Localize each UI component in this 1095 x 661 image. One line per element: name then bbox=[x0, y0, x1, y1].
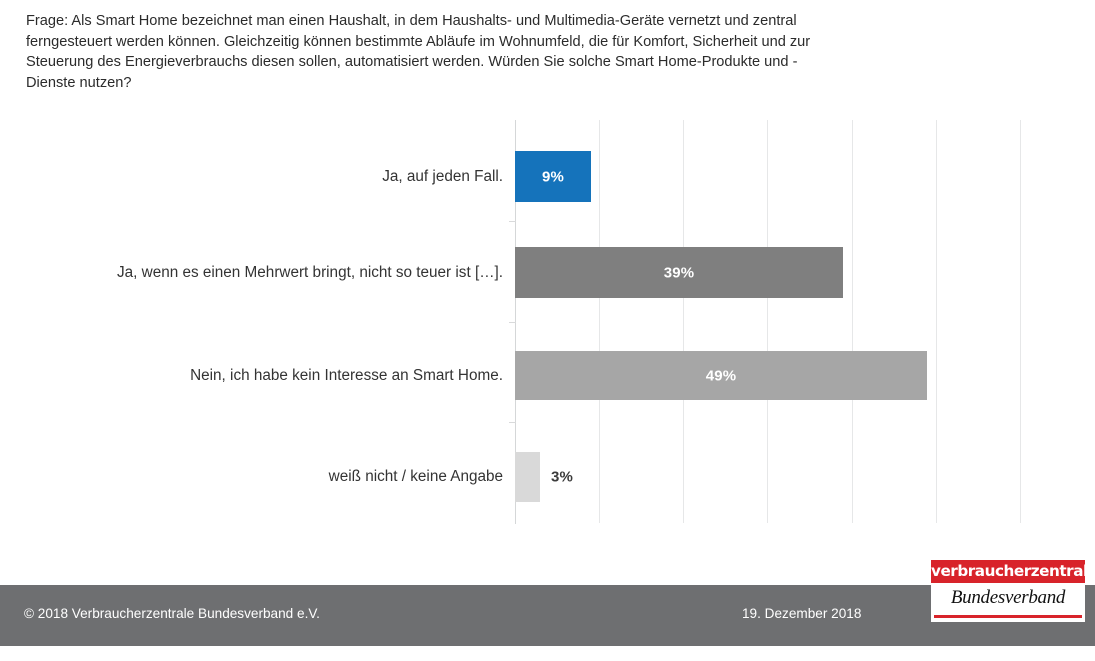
bar: 49% bbox=[515, 351, 927, 400]
bar-value-label: 39% bbox=[515, 264, 843, 281]
gridline bbox=[599, 120, 600, 523]
category-label: Ja, wenn es einen Mehrwert bringt, nicht… bbox=[0, 264, 503, 282]
slide-page: Frage: Als Smart Home bezeichnet man ein… bbox=[0, 0, 1095, 661]
bar: 9% bbox=[515, 151, 591, 202]
axis-tick bbox=[509, 322, 516, 323]
category-label: weiß nicht / keine Angabe bbox=[0, 468, 503, 486]
category-label: Nein, ich habe kein Interesse an Smart H… bbox=[0, 367, 503, 385]
logo-script-text: Bundesverband bbox=[931, 584, 1085, 612]
bar: 3% bbox=[515, 452, 540, 502]
verbraucherzentrale-logo: verbraucherzentrale Bundesverband bbox=[931, 560, 1085, 622]
footer-date: 19. Dezember 2018 bbox=[742, 606, 861, 621]
axis-tick bbox=[509, 221, 516, 222]
axis-tick bbox=[509, 422, 516, 423]
bar-chart: 9%Ja, auf jeden Fall.39%Ja, wenn es eine… bbox=[0, 0, 1095, 540]
gridline bbox=[683, 120, 684, 523]
gridline bbox=[1020, 120, 1021, 523]
footer-copyright: © 2018 Verbraucherzentrale Bundesverband… bbox=[24, 606, 320, 621]
gridline bbox=[767, 120, 768, 523]
gridline bbox=[852, 120, 853, 523]
logo-band-text: verbraucherzentrale bbox=[931, 560, 1085, 583]
gridline bbox=[936, 120, 937, 523]
bar-value-label: 3% bbox=[551, 469, 573, 486]
bar-value-label: 49% bbox=[515, 367, 927, 384]
category-label: Ja, auf jeden Fall. bbox=[0, 168, 503, 186]
logo-underline bbox=[934, 615, 1082, 618]
bar: 39% bbox=[515, 247, 843, 298]
bar-value-label: 9% bbox=[515, 168, 591, 185]
